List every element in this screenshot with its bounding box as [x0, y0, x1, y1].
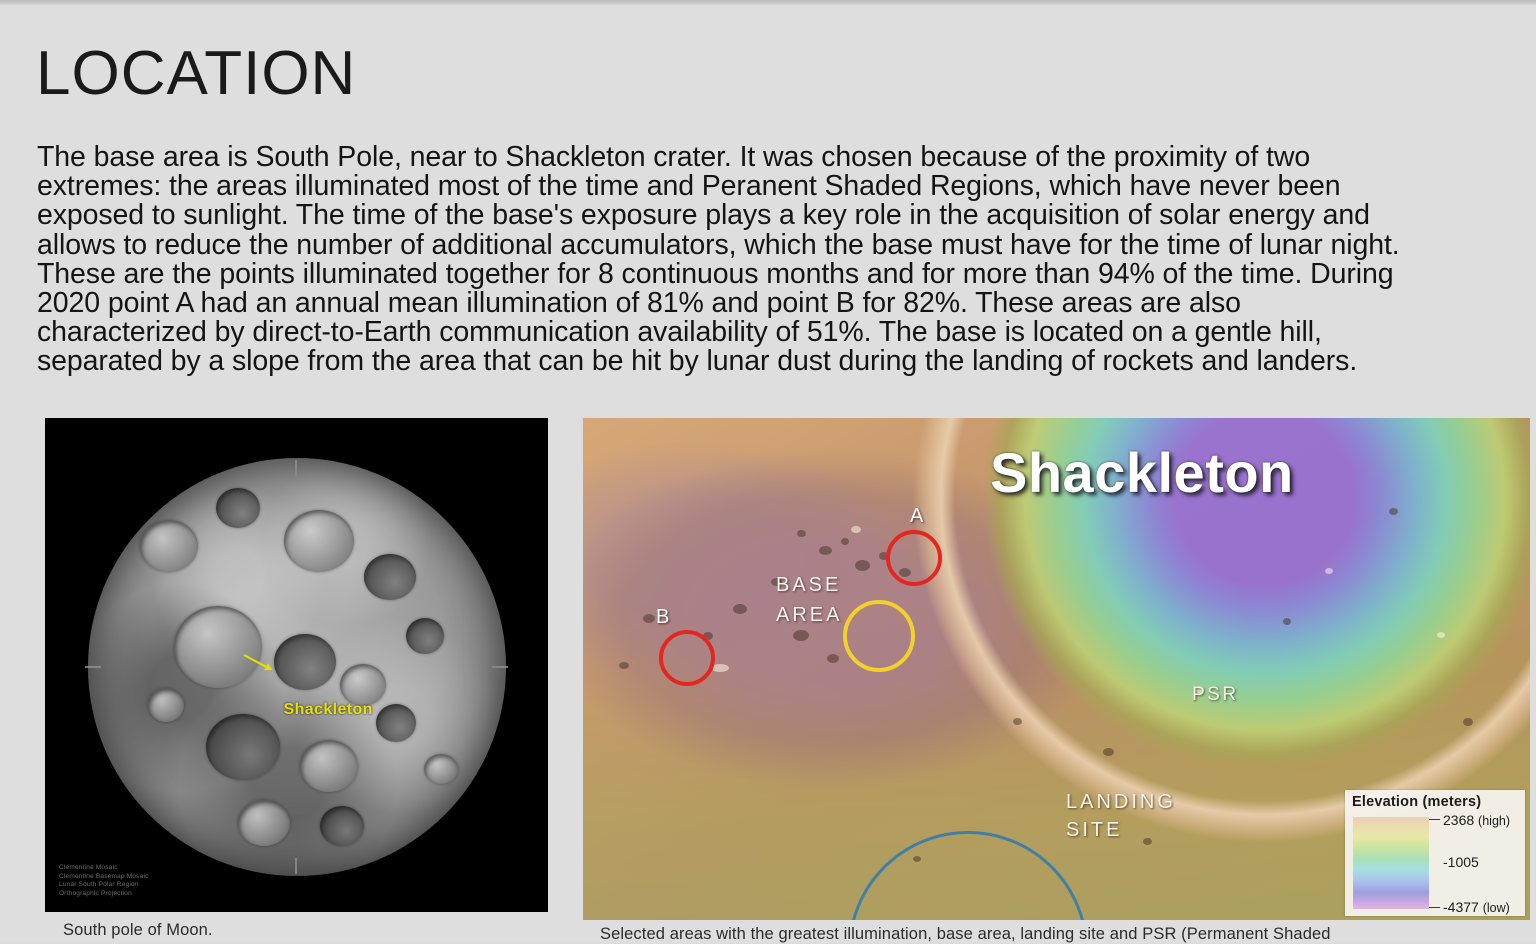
map-label-psr: PSR: [1192, 683, 1239, 707]
map-label-base-area-line2: AREA: [776, 603, 842, 627]
page-title: LOCATION: [36, 43, 356, 105]
graticule-tick: [295, 460, 297, 476]
legend-value-high: 2368 (high): [1443, 812, 1510, 828]
legend-tick-low: [1429, 907, 1440, 908]
caption-right-figure: Selected areas with the greatest illumin…: [600, 925, 1331, 944]
legend-tick-high: [1429, 819, 1440, 820]
graticule-tick: [85, 666, 101, 668]
legend-value-high-number: 2368: [1443, 812, 1474, 828]
marker-circle-base-area: [843, 600, 915, 672]
legend-value-mid: -1005: [1443, 854, 1479, 870]
legend-value-mid-number: -1005: [1443, 854, 1479, 870]
map-label-landing-site-line1: LANDING: [1066, 790, 1176, 814]
legend-value-low-number: -4377: [1443, 899, 1479, 915]
photo-metadata-line: Clementine Mosaic: [59, 864, 149, 873]
shackleton-photo-label: Shackleton: [284, 701, 373, 719]
marker-circle-b: [659, 630, 715, 686]
graticule-tick: [295, 858, 297, 874]
legend-value-low-qualifier: (low): [1483, 901, 1510, 915]
elevation-legend: Elevation (meters) 2368 (high) -1005 -43…: [1345, 790, 1525, 916]
graticule-tick: [492, 666, 508, 668]
marker-label-a: A: [910, 505, 923, 528]
photo-metadata-line: Lunar South Polar Region: [59, 881, 149, 890]
crater-title-shackleton: Shackleton: [990, 440, 1294, 505]
photo-metadata-line: Orthographic Projection: [59, 890, 149, 899]
photo-metadata-line: Clementine Basemap Mosaic: [59, 873, 149, 882]
slide-canvas: LOCATION The base area is South Pole, ne…: [0, 5, 1536, 943]
marker-label-b: B: [656, 606, 669, 629]
moon-photo-frame: Shackleton Clementine Mosaic Clementine …: [45, 418, 548, 912]
map-label-base-area-line1: BASE: [776, 573, 841, 597]
elevation-map-image: Shackleton PSR BASE AREA LANDING SITE A …: [583, 418, 1530, 920]
elevation-legend-title: Elevation (meters): [1352, 794, 1481, 810]
marker-circle-a: [886, 530, 942, 586]
map-label-landing-site-line2: SITE: [1066, 818, 1122, 842]
elevation-color-ramp: [1353, 817, 1429, 909]
legend-value-low: -4377 (low): [1443, 899, 1510, 915]
caption-left-figure: South pole of Moon.: [63, 921, 213, 940]
body-paragraph: The base area is South Pole, near to Sha…: [37, 143, 1492, 377]
legend-value-high-qualifier: (high): [1478, 814, 1510, 828]
figure-elevation-map: Shackleton PSR BASE AREA LANDING SITE A …: [583, 418, 1530, 920]
figure-south-pole-photo: Shackleton Clementine Mosaic Clementine …: [45, 418, 548, 912]
marker-circle-landing-site: [848, 831, 1088, 920]
photo-metadata-text: Clementine Mosaic Clementine Basemap Mos…: [59, 864, 149, 898]
moon-disc: Shackleton: [88, 458, 506, 876]
